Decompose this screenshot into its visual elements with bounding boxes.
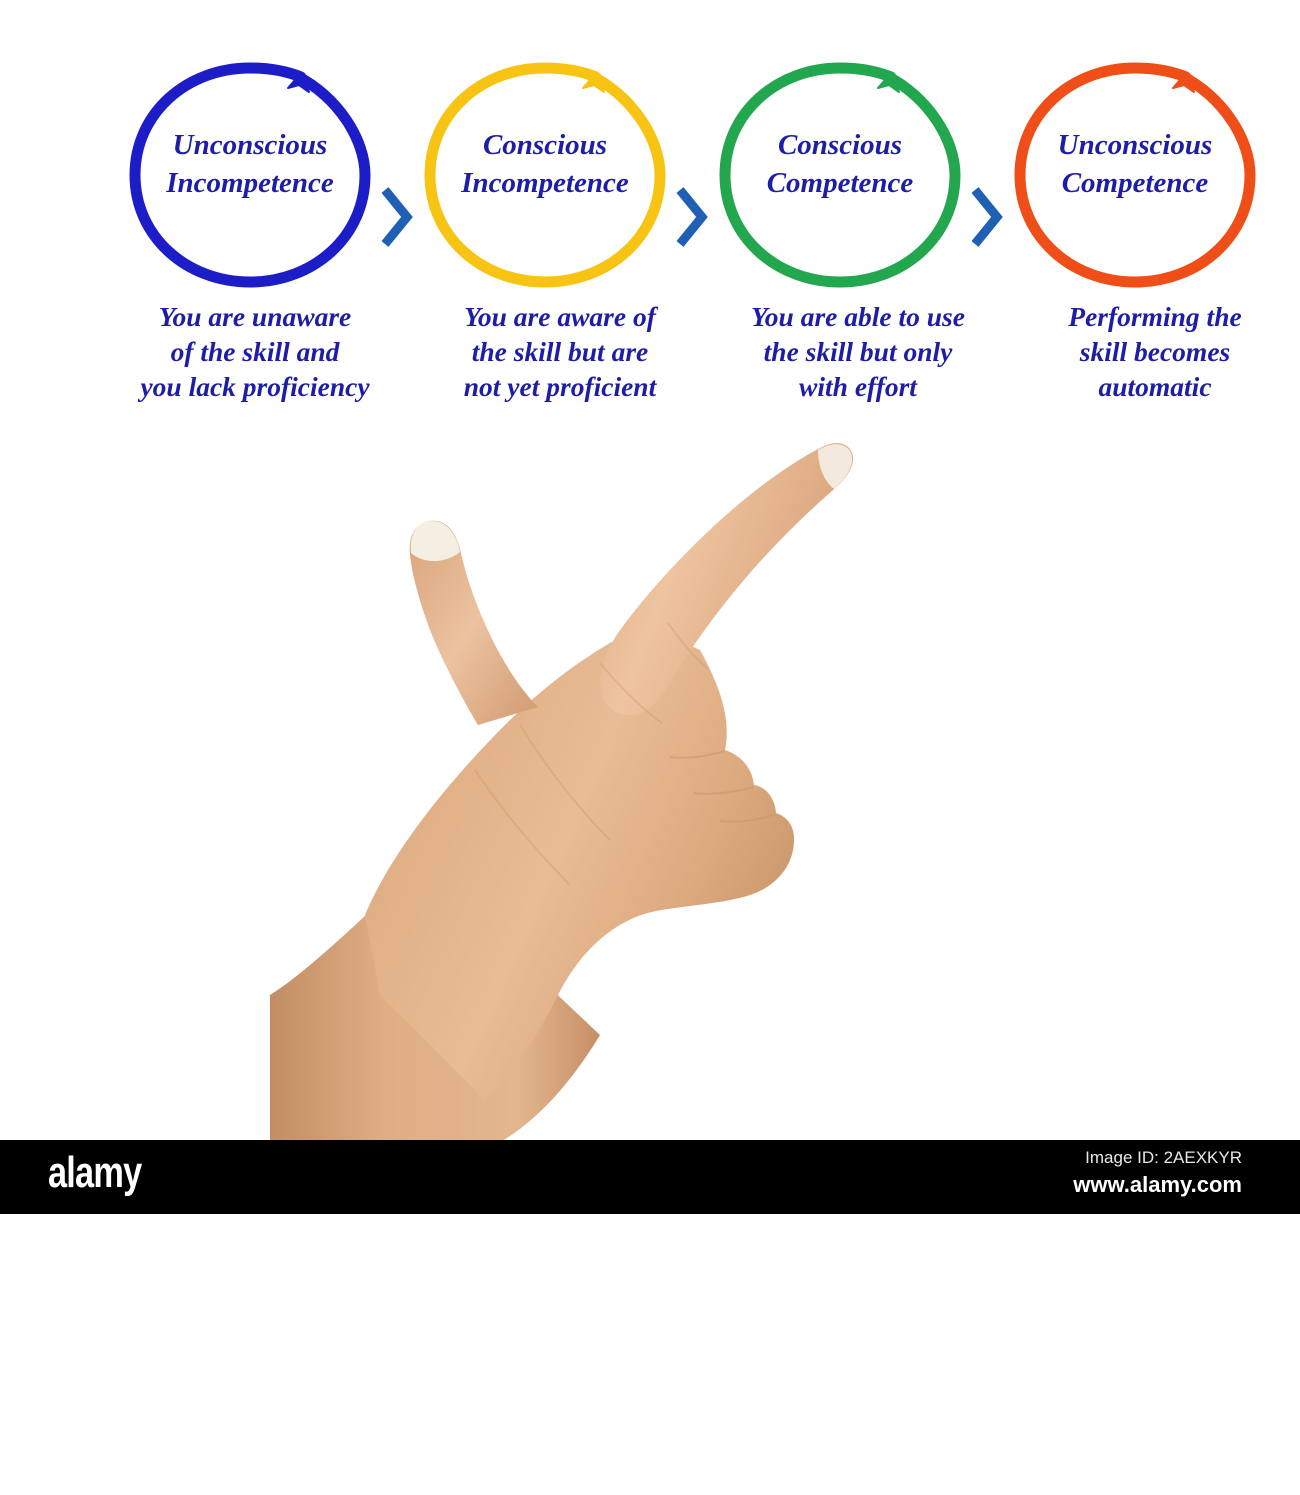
- pointing-hand-photo: a a a amy a: [270, 395, 920, 1150]
- stage-caption-3: You are able to use the skill but only w…: [713, 300, 1003, 405]
- image-id-label: Image ID: 2AEXKYR: [1085, 1148, 1242, 1168]
- circular-arrow-icon: [715, 40, 965, 290]
- caption-line-2: the skill but are: [415, 335, 705, 370]
- stage-caption-4: Performing the skill becomes automatic: [1010, 300, 1300, 405]
- screenshot-canvas: Unconscious Incompetence Conscious Incom…: [0, 0, 1300, 1214]
- caption-line-1: Performing the: [1010, 300, 1300, 335]
- caption-line-1: You are able to use: [713, 300, 1003, 335]
- chevron-right-icon: [968, 182, 1004, 252]
- watermark-tile: amy: [1010, 885, 1139, 961]
- alamy-logo: alamy: [48, 1148, 141, 1198]
- caption-line-2: the skill but only: [713, 335, 1003, 370]
- stage-node-2[interactable]: Conscious Incompetence: [420, 40, 670, 290]
- stage-node-3[interactable]: Conscious Competence: [715, 40, 965, 290]
- circular-arrow-icon: [1010, 40, 1260, 290]
- caption-line-3: automatic: [1010, 370, 1300, 405]
- watermark-tile: a: [670, 1450, 692, 1495]
- circular-arrow-icon: [420, 40, 670, 290]
- alamy-url: www.alamy.com: [1073, 1172, 1242, 1198]
- alamy-footer-bar: alamy Image ID: 2AEXKYR www.alamy.com: [0, 1140, 1300, 1214]
- caption-line-1: You are aware of: [415, 300, 705, 335]
- circular-arrow-icon: [125, 40, 375, 290]
- stage-caption-1: You are unaware of the skill and you lac…: [110, 300, 400, 405]
- caption-line-1: You are unaware: [110, 300, 400, 335]
- hand-illustration: [270, 395, 920, 1150]
- index-finger: [601, 443, 853, 715]
- stage-circles-row: Unconscious Incompetence Conscious Incom…: [0, 40, 1300, 310]
- stage-node-4[interactable]: Unconscious Competence: [1010, 40, 1260, 290]
- chevron-right-icon: [378, 182, 414, 252]
- caption-line-2: skill becomes: [1010, 335, 1300, 370]
- chevron-right-icon: [673, 182, 709, 252]
- caption-line-2: of the skill and: [110, 335, 400, 370]
- watermark-tile: a: [1065, 800, 1091, 854]
- thumbnail: [411, 521, 460, 561]
- stage-node-1[interactable]: Unconscious Incompetence: [125, 40, 375, 290]
- stage-caption-2: You are aware of the skill but are not y…: [415, 300, 705, 405]
